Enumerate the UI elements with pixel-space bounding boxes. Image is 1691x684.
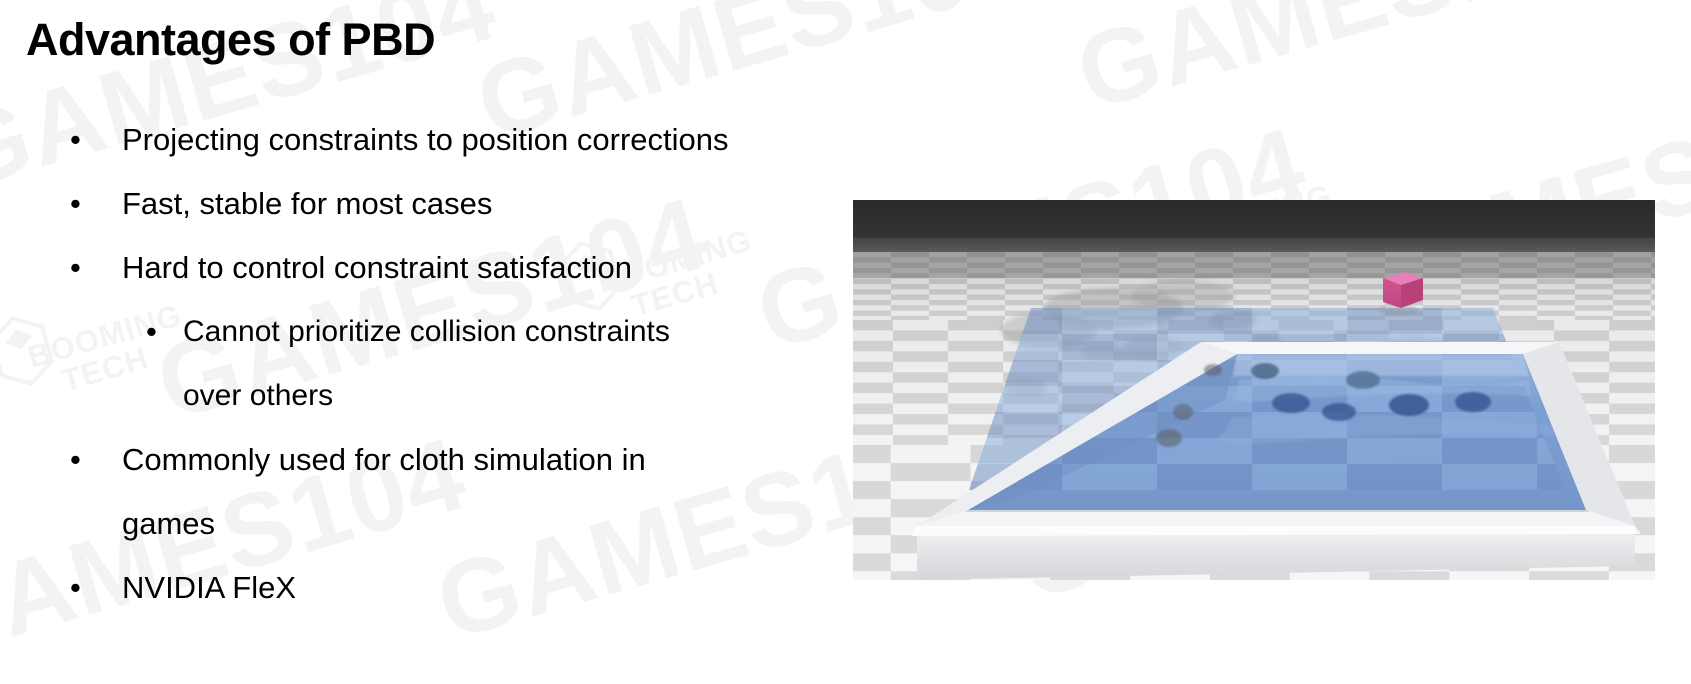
list-item: • Hard to control constraint satisfactio… xyxy=(0,236,830,300)
bullet-marker-icon: • xyxy=(70,556,81,620)
list-item: • Commonly used for cloth simulation in xyxy=(0,428,830,492)
fluid-simulation-figure xyxy=(853,200,1655,580)
bullet-marker-icon: • xyxy=(146,300,157,364)
pink-cube xyxy=(1378,272,1423,316)
list-item-text: Fast, stable for most cases xyxy=(122,172,830,236)
back-wall-shade xyxy=(853,200,1655,238)
list-item-text: NVIDIA FleX xyxy=(122,556,830,620)
list-item: • Fast, stable for most cases xyxy=(0,172,830,236)
list-item: • NVIDIA FleX xyxy=(0,556,830,620)
watermark-games104: GAMES104 xyxy=(1065,0,1639,134)
fluid-simulation-render xyxy=(853,200,1655,580)
bullet-list: • Projecting constraints to position cor… xyxy=(0,108,830,620)
list-item: • Projecting constraints to position cor… xyxy=(0,108,830,172)
list-item-text: Projecting constraints to position corre… xyxy=(122,108,830,172)
list-item-text-continuation: over others xyxy=(0,364,830,428)
bullet-marker-icon: • xyxy=(70,108,81,172)
list-item-sub: • Cannot prioritize collision constraint… xyxy=(0,300,830,364)
page-title: Advantages of PBD xyxy=(26,14,435,66)
slide-canvas: GAMES104 GAMES104 GAMES104 GAMES104 GAME… xyxy=(0,0,1691,684)
list-item-text: Cannot prioritize collision constraints xyxy=(183,300,830,364)
list-item-text: Hard to control constraint satisfaction xyxy=(122,236,830,300)
list-item-text-continuation: games xyxy=(0,492,830,556)
bullet-marker-icon: • xyxy=(70,172,81,236)
list-item-text: Commonly used for cloth simulation in xyxy=(122,428,830,492)
bullet-marker-icon: • xyxy=(70,428,81,492)
bullet-marker-icon: • xyxy=(70,236,81,300)
